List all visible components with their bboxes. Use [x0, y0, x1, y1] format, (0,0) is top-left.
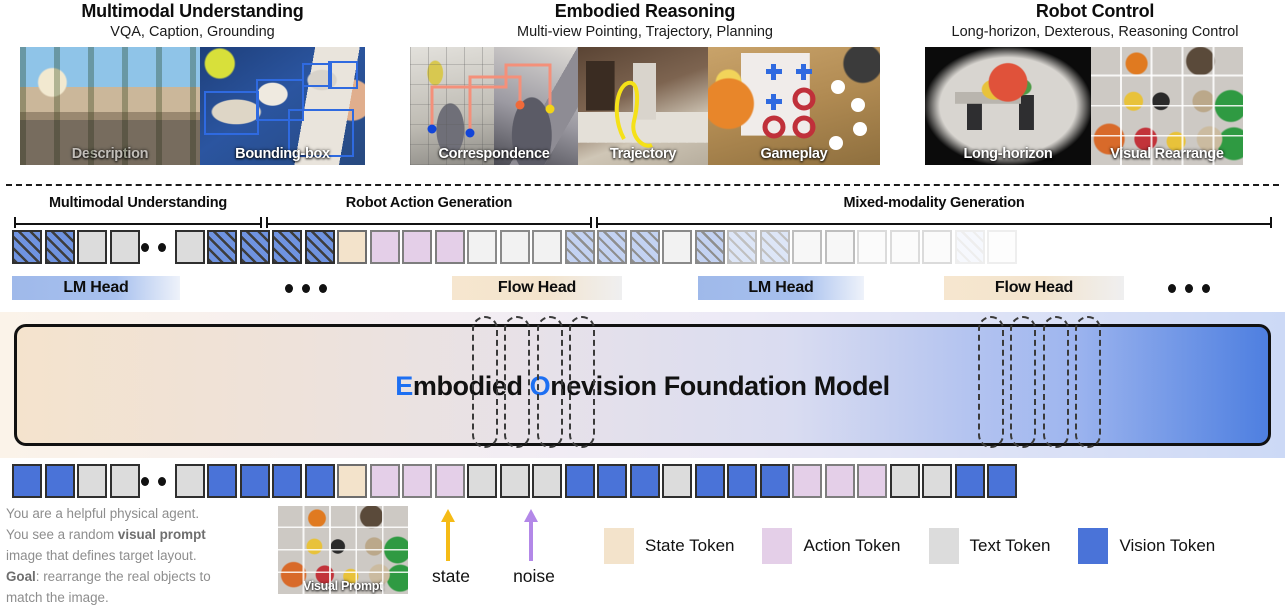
- token-empty: [467, 230, 497, 264]
- token-vision: [597, 464, 627, 498]
- image-long-horizon: Long-horizon: [925, 47, 1091, 165]
- token-text: [890, 464, 920, 498]
- noise-arrow-shaft: [529, 519, 533, 561]
- token-empty: [857, 230, 887, 264]
- token-empty: [532, 230, 562, 264]
- panel-image-strip: Description Bounding-box: [20, 47, 365, 165]
- image-visual-rearrange: Visual Rearrange: [1091, 47, 1243, 165]
- token-text: [77, 464, 107, 498]
- token-state: [337, 230, 367, 264]
- panel-multimodal-understanding: Multimodal Understanding VQA, Caption, G…: [20, 0, 365, 165]
- panel-embodied-reasoning: Embodied Reasoning Multi-view Pointing, …: [410, 0, 880, 165]
- token-vision: [207, 464, 237, 498]
- model-title-accent-e: E: [395, 371, 413, 401]
- token-action: [435, 464, 465, 498]
- token-text: [922, 464, 952, 498]
- ellipsis-heads-2: [1168, 284, 1210, 293]
- token-vision: [12, 464, 42, 498]
- panel-subtitle: Long-horizon, Dexterous, Reasoning Contr…: [925, 23, 1265, 41]
- prompt-line-1: You are a helpful physical agent.: [6, 503, 282, 524]
- token-hatch: [240, 230, 270, 264]
- prompt-line-4: Goal: rearrange the real objects to: [6, 566, 282, 587]
- token-empty: [500, 230, 530, 264]
- token-text: [500, 464, 530, 498]
- token-vision: [630, 464, 660, 498]
- token-state: [337, 464, 367, 498]
- token-hatch-light: [727, 230, 757, 264]
- legend-item-action-token: Action Token: [762, 528, 928, 564]
- prompt-visual-prompt-emphasis: visual prompt: [118, 527, 206, 542]
- dashed-connector-loop: [504, 316, 530, 448]
- bracket-mixed-modality-generation: [596, 217, 1272, 228]
- noise-arrow-label: noise: [497, 566, 571, 587]
- bbox-overlay: [288, 109, 354, 157]
- legend-item-vision-token: Vision Token: [1078, 528, 1243, 564]
- token-hatch: [12, 230, 42, 264]
- image-caption: Gameplay: [708, 146, 880, 162]
- token-vision: [760, 464, 790, 498]
- ellipsis-heads-1: [285, 284, 327, 293]
- legend-swatch: [604, 528, 634, 564]
- legend-label: Action Token: [803, 536, 900, 556]
- token-action: [825, 464, 855, 498]
- model-title-part-b: nevision Foundation Model: [550, 371, 889, 401]
- input-token-row: [0, 464, 1285, 498]
- token-action: [792, 464, 822, 498]
- image-caption: Description: [20, 146, 200, 162]
- image-trajectory: Trajectory: [578, 47, 708, 165]
- image-description: Description: [20, 47, 200, 165]
- bracket-label-mixed-modality-generation: Mixed-modality Generation: [596, 195, 1272, 211]
- token-hatch-light: [597, 230, 627, 264]
- flow-head-badge-2: Flow Head: [944, 276, 1124, 300]
- legend-label: Text Token: [970, 536, 1051, 556]
- token-text: [175, 230, 205, 264]
- token-legend: State TokenAction TokenText TokenVision …: [604, 528, 1243, 564]
- output-token-row: [0, 230, 1285, 264]
- bbox-overlay: [256, 79, 304, 121]
- token-empty: [987, 230, 1017, 264]
- token-text: [77, 230, 107, 264]
- token-hatch: [45, 230, 75, 264]
- token-action: [370, 464, 400, 498]
- dashed-connector-loop: [537, 316, 563, 448]
- token-empty: [890, 230, 920, 264]
- token-vision: [727, 464, 757, 498]
- token-action: [435, 230, 465, 264]
- token-vision: [955, 464, 985, 498]
- bracket-multimodal-understanding: [14, 217, 262, 228]
- token-text: [110, 464, 140, 498]
- token-vision: [272, 464, 302, 498]
- token-vision: [305, 464, 335, 498]
- flow-head-badge-1: Flow Head: [452, 276, 622, 300]
- token-empty: [792, 230, 822, 264]
- token-text: [467, 464, 497, 498]
- token-text: [110, 230, 140, 264]
- legend-swatch: [929, 528, 959, 564]
- bracket-label-multimodal-understanding: Multimodal Understanding: [14, 195, 262, 211]
- bracket-robot-action-generation: [266, 217, 592, 228]
- image-bounding-box: Bounding-box: [200, 47, 365, 165]
- ellipsis-tokens: [141, 477, 166, 486]
- token-vision: [695, 464, 725, 498]
- image-caption-correspondence: Correspondence: [410, 146, 578, 162]
- ellipsis-tokens: [141, 243, 166, 252]
- prompt-goal-label: Goal: [6, 569, 36, 584]
- token-hatch: [207, 230, 237, 264]
- dashed-connector-loop: [1075, 316, 1101, 448]
- bbox-overlay: [328, 61, 358, 89]
- legend-label: Vision Token: [1119, 536, 1215, 556]
- prompt-line-3: image that defines target layout.: [6, 545, 282, 566]
- state-arrow: [441, 509, 461, 564]
- legend-label: State Token: [645, 536, 734, 556]
- section-divider: [6, 184, 1279, 186]
- image-gameplay: Gameplay: [708, 47, 880, 165]
- bracket-label-robot-action-generation: Robot Action Generation: [266, 195, 592, 211]
- prompt-line-2: You see a random visual prompt: [6, 524, 282, 545]
- dashed-connector-loop: [1010, 316, 1036, 448]
- token-action: [370, 230, 400, 264]
- legend-item-text-token: Text Token: [929, 528, 1079, 564]
- legend-swatch: [762, 528, 792, 564]
- token-hatch-light: [565, 230, 595, 264]
- token-hatch-light: [695, 230, 725, 264]
- dashed-connector-loop: [569, 316, 595, 448]
- token-text: [662, 464, 692, 498]
- token-hatch-light: [955, 230, 985, 264]
- visual-prompt-caption: Visual Prompt: [278, 579, 408, 593]
- task-category-panels: Multimodal Understanding VQA, Caption, G…: [0, 0, 1285, 176]
- token-hatch: [305, 230, 335, 264]
- panel-title: Embodied Reasoning: [410, 0, 880, 22]
- noise-arrow-head-icon: [524, 509, 538, 522]
- legend-item-state-token: State Token: [604, 528, 762, 564]
- image-caption: Bounding-box: [200, 146, 365, 162]
- dashed-connector-loop: [978, 316, 1004, 448]
- token-empty: [662, 230, 692, 264]
- state-arrow-head-icon: [441, 509, 455, 522]
- prompt-line-5: match the image.: [6, 587, 282, 608]
- token-action: [402, 464, 432, 498]
- token-empty: [825, 230, 855, 264]
- token-action: [857, 464, 887, 498]
- bbox-overlay: [302, 63, 332, 87]
- panel-title: Robot Control: [925, 0, 1265, 22]
- lm-head-badge-1: LM Head: [12, 276, 180, 300]
- token-vision: [565, 464, 595, 498]
- state-arrow-shaft: [446, 519, 450, 561]
- token-vision: [240, 464, 270, 498]
- token-text: [175, 464, 205, 498]
- visual-prompt-image: Visual Prompt: [278, 506, 408, 594]
- dashed-connector-loop: [472, 316, 498, 448]
- token-hatch: [272, 230, 302, 264]
- token-empty: [922, 230, 952, 264]
- panel-robot-control: Robot Control Long-horizon, Dexterous, R…: [925, 0, 1265, 165]
- prompt-line-2a: You see a random: [6, 527, 118, 542]
- token-hatch-light: [760, 230, 790, 264]
- state-arrow-label: state: [416, 566, 486, 587]
- image-caption: Visual Rearrange: [1091, 146, 1243, 162]
- token-text: [532, 464, 562, 498]
- panel-subtitle: Multi-view Pointing, Trajectory, Plannin…: [410, 23, 880, 41]
- legend-swatch: [1078, 528, 1108, 564]
- lm-head-badge-2: LM Head: [698, 276, 864, 300]
- panel-title: Multimodal Understanding: [20, 0, 365, 22]
- token-vision: [987, 464, 1017, 498]
- image-caption: Long-horizon: [925, 146, 1091, 162]
- prompt-text: You are a helpful physical agent. You se…: [6, 503, 282, 608]
- panel-subtitle: VQA, Caption, Grounding: [20, 23, 365, 41]
- noise-arrow: [524, 509, 544, 564]
- token-hatch-light: [630, 230, 660, 264]
- dashed-connector-loop: [1043, 316, 1069, 448]
- token-vision: [45, 464, 75, 498]
- prompt-line-4b: : rearrange the real objects to: [36, 569, 211, 584]
- bbox-overlay: [204, 91, 259, 135]
- token-action: [402, 230, 432, 264]
- panel-image-strip: Long-horizon Visual Rearrange: [925, 47, 1265, 165]
- image-caption: Trajectory: [578, 146, 708, 162]
